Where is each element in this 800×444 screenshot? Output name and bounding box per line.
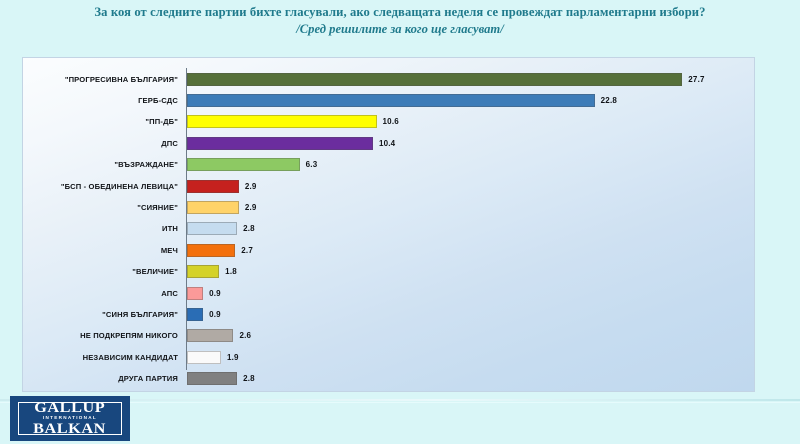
bar-value-label: 2.9: [245, 176, 257, 197]
plot-area: "ПРОГРЕСИВНА БЪЛГАРИЯ"27.7ГЕРБ-СДС22.8"П…: [23, 58, 756, 393]
bar-value-label: 2.9: [245, 197, 257, 218]
gallup-logo: GALLUP INTERNATIONAL BALKAN: [10, 396, 130, 441]
bar[interactable]: [187, 372, 237, 385]
bar-value-label: 2.8: [243, 218, 255, 239]
category-label: "ПП-ДБ": [0, 111, 178, 132]
title-block: За коя от следните партии бихте гласувал…: [0, 4, 800, 38]
bar[interactable]: [187, 137, 373, 150]
page-subtitle: /Сред решилите за кого ще гласуват/: [0, 21, 800, 38]
bar-value-label: 2.6: [239, 325, 251, 346]
bar-value-label: 1.9: [227, 347, 239, 368]
category-label: НЕЗАВИСИМ КАНДИДАТ: [0, 347, 178, 368]
bar-row: АПС0.9: [23, 283, 756, 304]
bar-row: ДРУГА ПАРТИЯ2.8: [23, 368, 756, 389]
bar-value-label: 2.8: [243, 368, 255, 389]
bar[interactable]: [187, 351, 221, 364]
bar-value-label: 6.3: [306, 154, 318, 175]
bar-row: "ПП-ДБ"10.6: [23, 111, 756, 132]
bar-value-label: 10.6: [383, 111, 399, 132]
bar[interactable]: [187, 180, 239, 193]
bar-value-label: 22.8: [601, 90, 617, 111]
bar-value-label: 2.7: [241, 240, 253, 261]
bar-row: МЕЧ2.7: [23, 240, 756, 261]
bar-value-label: 1.8: [225, 261, 237, 282]
logo-balkan-text: BALKAN: [34, 422, 107, 437]
category-label: МЕЧ: [0, 240, 178, 261]
category-label: ДПС: [0, 133, 178, 154]
bar[interactable]: [187, 265, 219, 278]
category-label: НЕ ПОДКРЕПЯМ НИКОГО: [0, 325, 178, 346]
bar[interactable]: [187, 158, 300, 171]
page-title: За коя от следните партии бихте гласувал…: [0, 4, 800, 21]
bar-row: "БСП - ОБЕДИНЕНА ЛЕВИЦА"2.9: [23, 176, 756, 197]
category-label: АПС: [0, 283, 178, 304]
bar-row: "ВЪЗРАЖДАНЕ"6.3: [23, 154, 756, 175]
bar-value-label: 10.4: [379, 133, 395, 154]
bar-row: НЕЗАВИСИМ КАНДИДАТ1.9: [23, 347, 756, 368]
category-label: "ПРОГРЕСИВНА БЪЛГАРИЯ": [0, 69, 178, 90]
category-label: ГЕРБ-СДС: [0, 90, 178, 111]
bar[interactable]: [187, 115, 377, 128]
bar[interactable]: [187, 222, 237, 235]
bar-row: "ВЕЛИЧИЕ"1.8: [23, 261, 756, 282]
bar[interactable]: [187, 94, 595, 107]
category-label: "ВЕЛИЧИЕ": [0, 261, 178, 282]
bar[interactable]: [187, 287, 203, 300]
logo-gallup-text: GALLUP: [34, 401, 105, 416]
bar[interactable]: [187, 201, 239, 214]
bar-value-label: 0.9: [209, 304, 221, 325]
category-label: "ВЪЗРАЖДАНЕ": [0, 154, 178, 175]
bar[interactable]: [187, 329, 233, 342]
category-label: ДРУГА ПАРТИЯ: [0, 368, 178, 389]
bar-value-label: 0.9: [209, 283, 221, 304]
bar-row: "СИНЯ БЪЛГАРИЯ"0.9: [23, 304, 756, 325]
bar[interactable]: [187, 73, 682, 86]
category-label: "СИЯНИЕ": [0, 197, 178, 218]
category-label: "СИНЯ БЪЛГАРИЯ": [0, 304, 178, 325]
chart-panel: "ПРОГРЕСИВНА БЪЛГАРИЯ"27.7ГЕРБ-СДС22.8"П…: [22, 57, 755, 392]
gallup-logo-frame: GALLUP INTERNATIONAL BALKAN: [18, 402, 122, 435]
bar-value-label: 27.7: [688, 69, 704, 90]
bar-row: ГЕРБ-СДС22.8: [23, 90, 756, 111]
bar[interactable]: [187, 244, 235, 257]
bar-row: "СИЯНИЕ"2.9: [23, 197, 756, 218]
bar-row: "ПРОГРЕСИВНА БЪЛГАРИЯ"27.7: [23, 69, 756, 90]
bar-row: НЕ ПОДКРЕПЯМ НИКОГО2.6: [23, 325, 756, 346]
category-label: "БСП - ОБЕДИНЕНА ЛЕВИЦА": [0, 176, 178, 197]
category-label: ИТН: [0, 218, 178, 239]
bar[interactable]: [187, 308, 203, 321]
bar-row: ДПС10.4: [23, 133, 756, 154]
bar-row: ИТН2.8: [23, 218, 756, 239]
